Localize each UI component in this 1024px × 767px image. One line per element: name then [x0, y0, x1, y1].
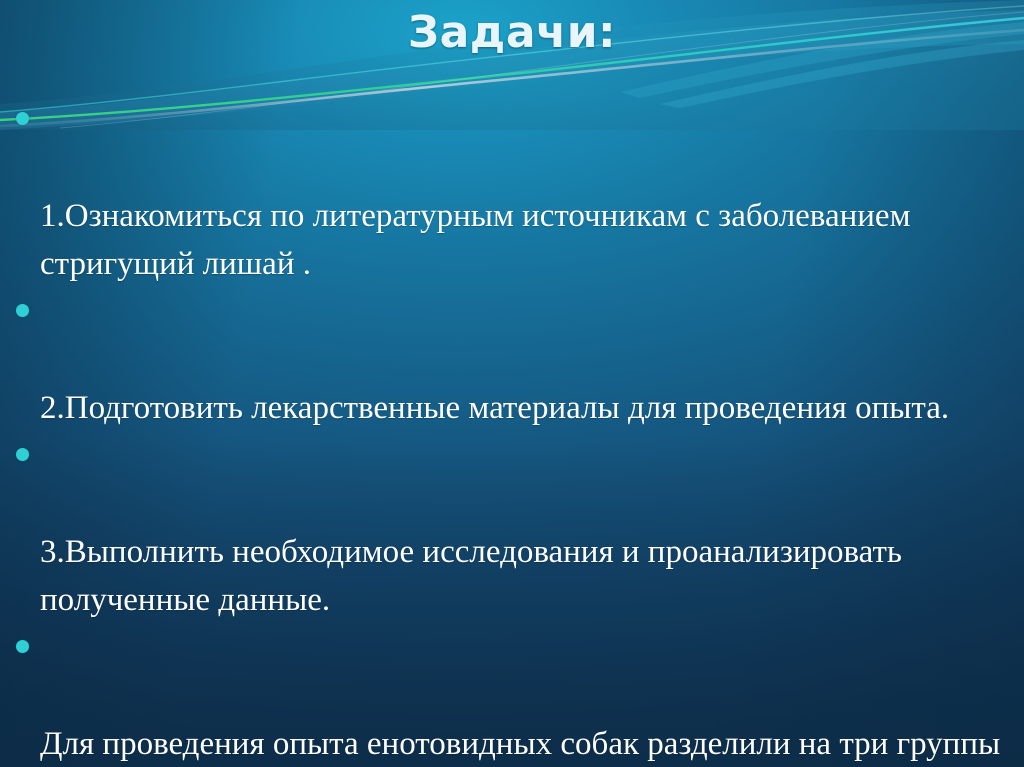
- task-list: 1.Ознакомиться по литературным источника…: [0, 96, 1024, 767]
- circle-bullet-icon: [16, 304, 29, 317]
- list-item-text: 3.Выполнить необходимое исследования и п…: [40, 534, 902, 618]
- list-item[interactable]: 1.Ознакомиться по литературным источника…: [0, 96, 1024, 288]
- list-item-text: 2.Подготовить лекарственные материалы дл…: [40, 390, 949, 426]
- circle-bullet-icon: [16, 112, 29, 125]
- list-item[interactable]: Для проведения опыта енотовидных собак р…: [0, 624, 1024, 767]
- list-item-text: Для проведения опыта енотовидных собак р…: [40, 726, 1000, 762]
- list-item[interactable]: 2.Подготовить лекарственные материалы дл…: [0, 288, 1024, 432]
- slide-canvas: Задачи: 1.Ознакомиться по литературным и…: [0, 0, 1024, 767]
- list-item[interactable]: 3.Выполнить необходимое исследования и п…: [0, 432, 1024, 624]
- circle-bullet-icon: [16, 640, 29, 653]
- page-title: Задачи:: [0, 6, 1024, 60]
- list-item-text: 1.Ознакомиться по литературным источника…: [40, 198, 910, 282]
- content-body: 1.Ознакомиться по литературным источника…: [0, 96, 1024, 767]
- circle-bullet-icon: [16, 448, 29, 461]
